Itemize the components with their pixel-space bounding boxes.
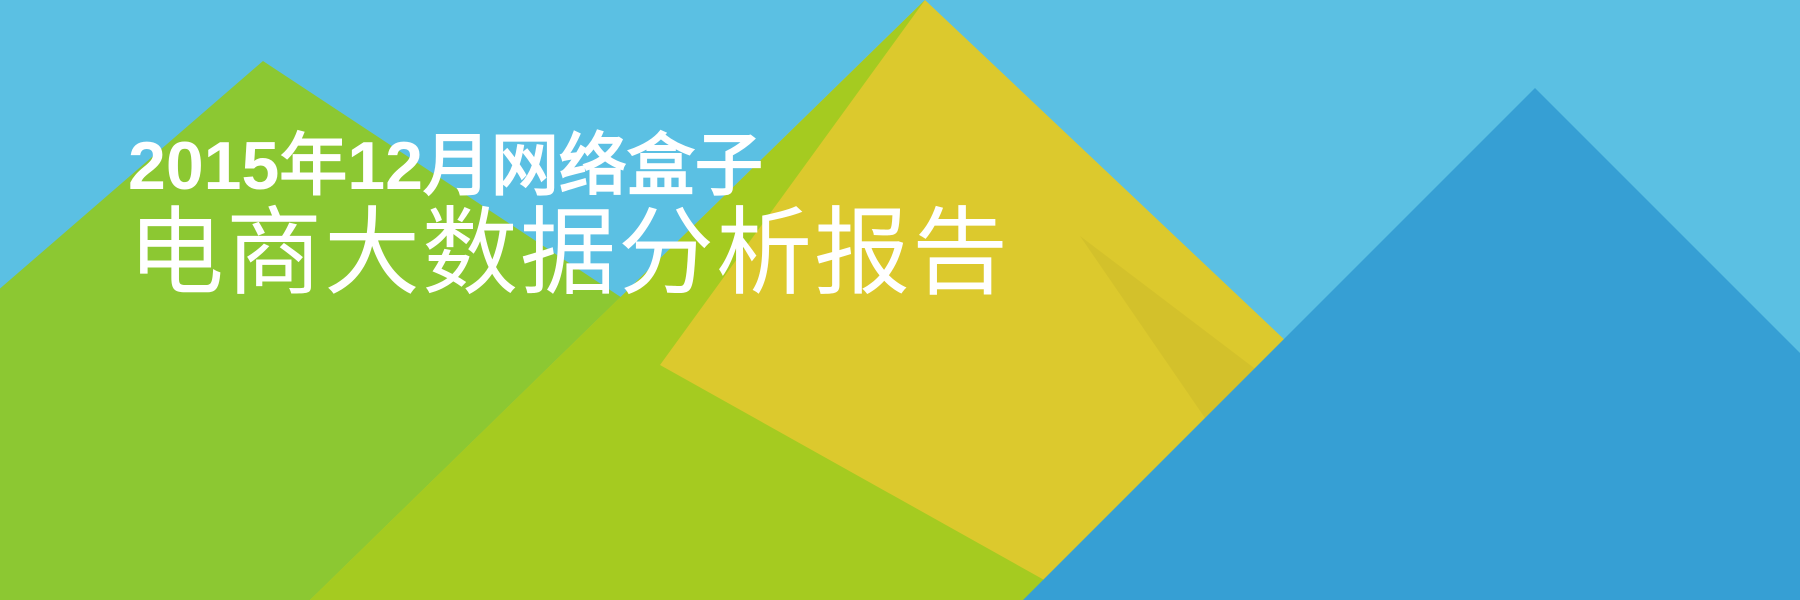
report-cover-banner: 2015年12月网络盒子 电商大数据分析报告 <box>0 0 1800 600</box>
cover-title-line-2: 电商大数据分析报告 <box>128 206 1010 302</box>
cover-title-line-1: 2015年12月网络盒子 <box>128 132 1010 200</box>
cover-title-block: 2015年12月网络盒子 电商大数据分析报告 <box>128 132 1010 302</box>
